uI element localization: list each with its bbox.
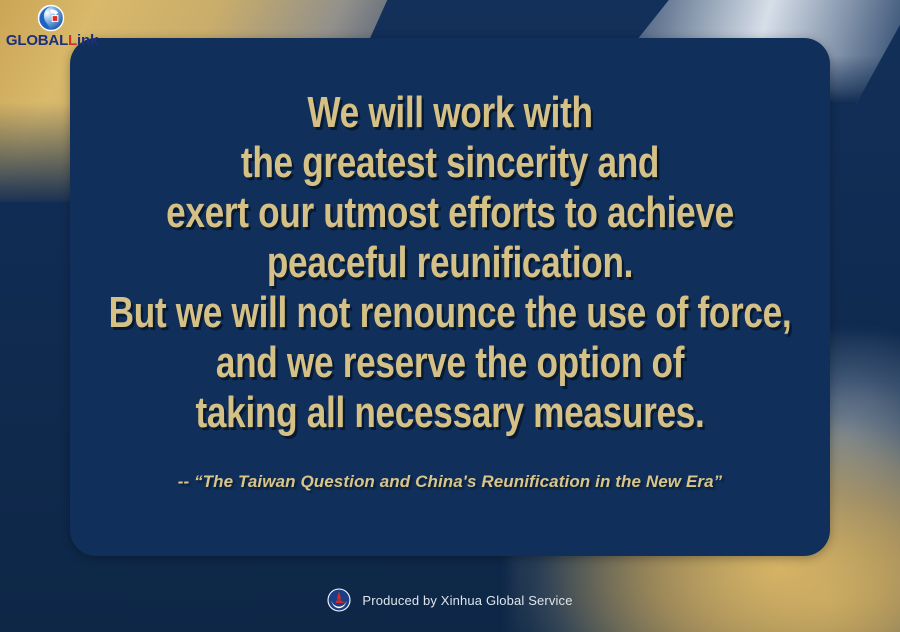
globalink-wordmark-global: GLOBAL: [6, 32, 68, 49]
poster-canvas: GLOBALLink We will work with the greates…: [0, 0, 900, 632]
quote-line-1: We will work with: [90, 88, 810, 138]
globalink-wordmark-ink: ink: [77, 32, 98, 49]
quote-line-3: exert our utmost efforts to achieve: [90, 188, 810, 238]
globalink-wordmark: GLOBALLink: [4, 32, 100, 49]
globe-icon: [37, 4, 65, 32]
quote-line-7: taking all necessary measures.: [90, 388, 810, 438]
footer-credit-bar: Produced by Xinhua Global Service: [0, 588, 900, 612]
quote-line-6: and we reserve the option of: [90, 338, 810, 388]
quote-line-5: But we will not renounce the use of forc…: [90, 288, 810, 338]
quote-line-2: the greatest sincerity and: [90, 138, 810, 188]
quote-text: We will work with the greatest sincerity…: [90, 88, 810, 438]
globalink-wordmark-l: L: [68, 32, 77, 49]
globalink-logo: GLOBALLink: [4, 2, 100, 60]
footer-credit-text: Produced by Xinhua Global Service: [362, 593, 572, 608]
xinhua-logo-icon: [327, 588, 351, 612]
quote-attribution: -- “The Taiwan Question and China's Reun…: [0, 472, 900, 492]
quote-line-4: peaceful reunification.: [90, 238, 810, 288]
